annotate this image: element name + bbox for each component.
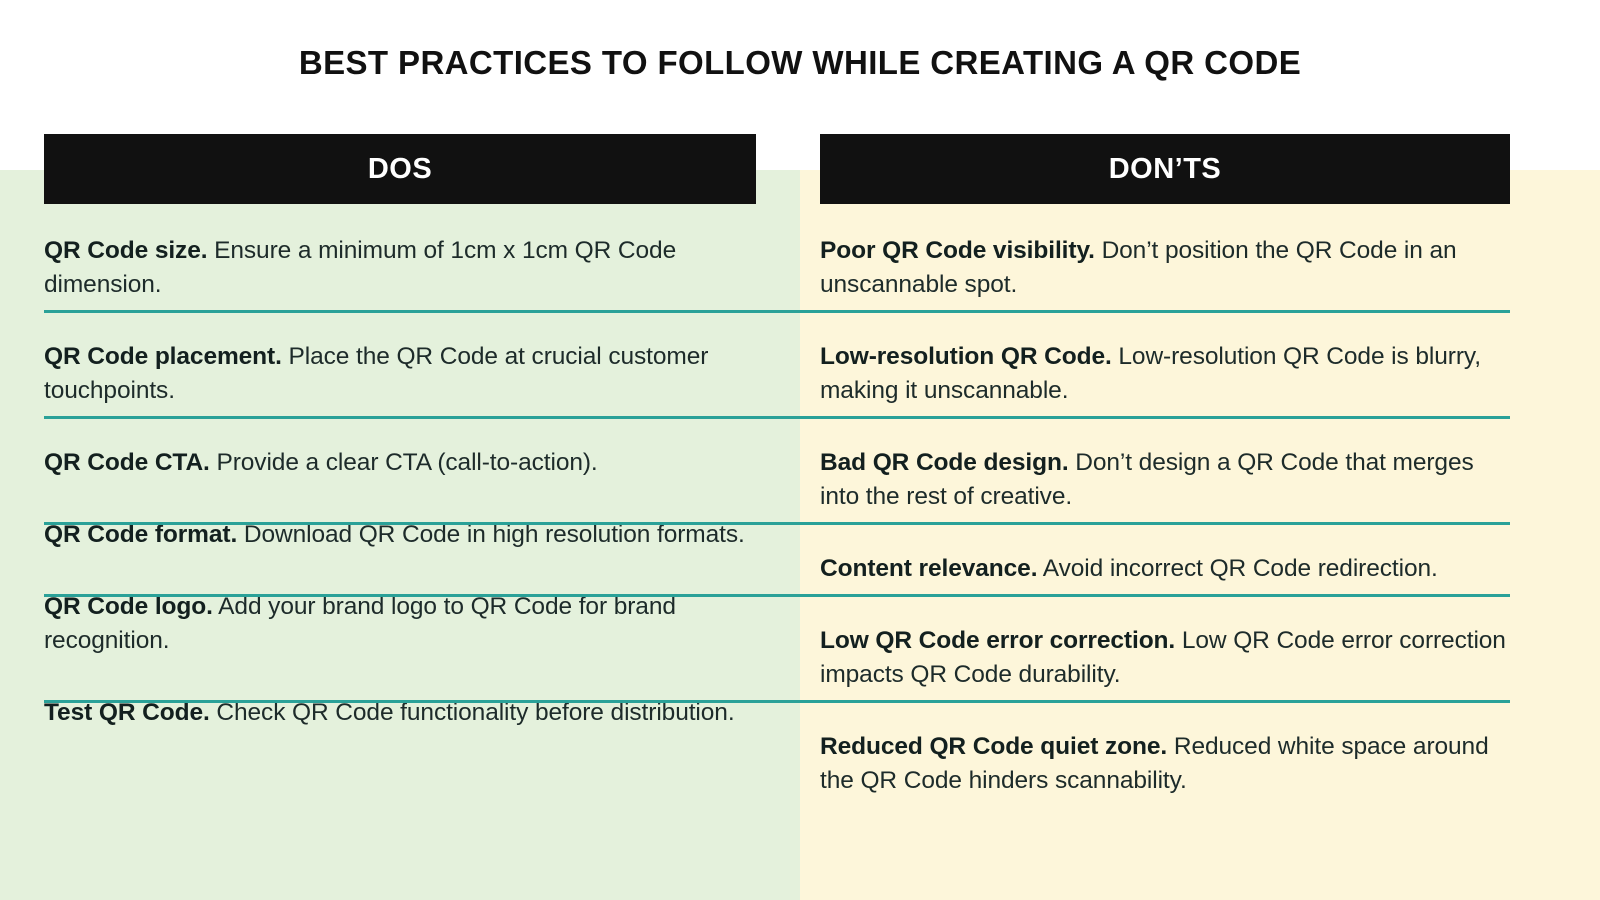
comparison-table: DOS QR Code size. Ensure a minimum of 1c… bbox=[0, 0, 1600, 900]
donts-row-list: Poor QR Code visibility. Don’t position … bbox=[820, 204, 1510, 806]
dos-row-text: QR Code logo. Add your brand logo to QR … bbox=[44, 590, 756, 658]
donts-column-header-label: DON’TS bbox=[1109, 153, 1222, 186]
dos-row: QR Code size. Ensure a minimum of 1cm x … bbox=[44, 204, 756, 310]
row-divider bbox=[44, 416, 1510, 419]
donts-row-text: Low-resolution QR Code. Low-resolution Q… bbox=[820, 340, 1510, 408]
row-divider bbox=[44, 310, 1510, 313]
donts-row: Reduced QR Code quiet zone. Reduced whit… bbox=[820, 700, 1510, 806]
donts-row-text: Content relevance. Avoid incorrect QR Co… bbox=[820, 552, 1510, 586]
donts-row-term: Content relevance. bbox=[820, 555, 1037, 582]
dos-row: QR Code placement. Place the QR Code at … bbox=[44, 310, 756, 416]
donts-row-text: Poor QR Code visibility. Don’t position … bbox=[820, 234, 1510, 302]
dos-row-term: QR Code format. bbox=[44, 521, 237, 548]
donts-row: Bad QR Code design. Don’t design a QR Co… bbox=[820, 416, 1510, 522]
dos-row-text: QR Code CTA. Provide a clear CTA (call-t… bbox=[44, 446, 756, 480]
donts-row: Content relevance. Avoid incorrect QR Co… bbox=[820, 522, 1510, 594]
dos-row-list: QR Code size. Ensure a minimum of 1cm x … bbox=[44, 204, 756, 738]
dos-row-term: QR Code placement. bbox=[44, 343, 282, 370]
dos-row-text: QR Code placement. Place the QR Code at … bbox=[44, 340, 756, 408]
dos-row: QR Code logo. Add your brand logo to QR … bbox=[44, 560, 756, 666]
donts-row-term: Poor QR Code visibility. bbox=[820, 237, 1095, 264]
dos-row-term: QR Code CTA. bbox=[44, 449, 210, 476]
dos-row-text: QR Code size. Ensure a minimum of 1cm x … bbox=[44, 234, 756, 302]
donts-row: Poor QR Code visibility. Don’t position … bbox=[820, 204, 1510, 310]
donts-row-term: Low QR Code error correction. bbox=[820, 627, 1175, 654]
dos-row-detail: Check QR Code functionality before distr… bbox=[210, 699, 735, 726]
row-divider bbox=[44, 700, 1510, 703]
dos-row-term: QR Code size. bbox=[44, 237, 207, 264]
donts-row: Low QR Code error correction. Low QR Cod… bbox=[820, 594, 1510, 700]
donts-row: Low-resolution QR Code. Low-resolution Q… bbox=[820, 310, 1510, 416]
dos-row: QR Code CTA. Provide a clear CTA (call-t… bbox=[44, 416, 756, 488]
row-divider bbox=[44, 594, 1510, 597]
dos-column-header-label: DOS bbox=[368, 153, 432, 186]
dos-row-detail: Provide a clear CTA (call-to-action). bbox=[210, 449, 598, 476]
donts-row-term: Bad QR Code design. bbox=[820, 449, 1069, 476]
dos-row-detail: Download QR Code in high resolution form… bbox=[237, 521, 745, 548]
donts-column: DON’TS Poor QR Code visibility. Don’t po… bbox=[820, 134, 1510, 806]
page-title: BEST PRACTICES TO FOLLOW WHILE CREATING … bbox=[0, 0, 1600, 125]
donts-row-term: Reduced QR Code quiet zone. bbox=[820, 733, 1167, 760]
donts-row-term: Low-resolution QR Code. bbox=[820, 343, 1112, 370]
donts-row-detail: Avoid incorrect QR Code redirection. bbox=[1037, 555, 1437, 582]
dos-column: DOS QR Code size. Ensure a minimum of 1c… bbox=[44, 134, 756, 738]
row-divider bbox=[44, 522, 1510, 525]
donts-row-text: Reduced QR Code quiet zone. Reduced whit… bbox=[820, 730, 1510, 798]
donts-row-text: Bad QR Code design. Don’t design a QR Co… bbox=[820, 446, 1510, 514]
page-title-text: BEST PRACTICES TO FOLLOW WHILE CREATING … bbox=[299, 44, 1301, 82]
dos-row-term: QR Code logo. bbox=[44, 593, 213, 620]
donts-row-text: Low QR Code error correction. Low QR Cod… bbox=[820, 624, 1510, 692]
donts-column-header: DON’TS bbox=[820, 134, 1510, 204]
dos-column-header: DOS bbox=[44, 134, 756, 204]
dos-row-term: Test QR Code. bbox=[44, 699, 210, 726]
